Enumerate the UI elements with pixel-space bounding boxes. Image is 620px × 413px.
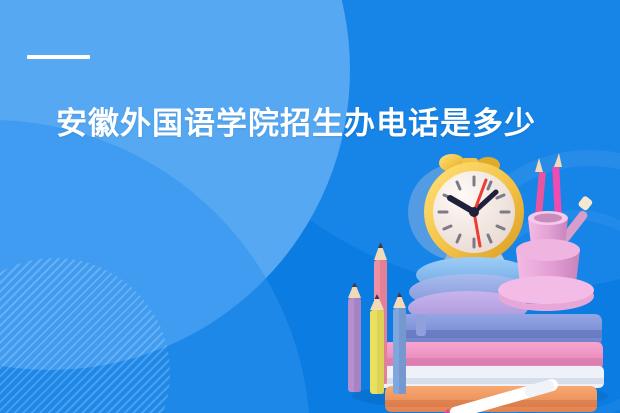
standing-pencils bbox=[348, 242, 406, 394]
book-white-shade bbox=[376, 378, 604, 384]
page-title: 安徽外国语学院招生办电话是多少 bbox=[56, 104, 576, 144]
book-blue-shade bbox=[400, 330, 602, 338]
holder-cup-opening bbox=[534, 214, 562, 223]
pencil-blue-shade bbox=[399, 308, 406, 394]
magenta-pencil-tip bbox=[535, 158, 543, 172]
study-supplies-illustration bbox=[330, 150, 620, 413]
title-accent-rule bbox=[27, 55, 90, 59]
pencil-blue-lead bbox=[397, 292, 402, 297]
holder-body-top bbox=[516, 239, 580, 261]
pink-pencil-tip bbox=[554, 153, 562, 167]
pencil-violet-lead bbox=[352, 282, 357, 287]
clock-center-pin bbox=[469, 207, 479, 217]
pencil-violet-shade bbox=[354, 298, 361, 392]
banner-image: 安徽外国语学院招生办电话是多少 bbox=[0, 0, 620, 413]
book-pink-shade bbox=[383, 358, 603, 365]
book-blue-bookmark bbox=[416, 314, 426, 336]
pencil-yellow-shade bbox=[377, 310, 384, 394]
book-white bbox=[376, 366, 604, 388]
eraser-stick-tip bbox=[577, 195, 593, 211]
holder-base-top bbox=[498, 276, 594, 304]
book-pink bbox=[383, 342, 603, 370]
pencil-red-tall-lead bbox=[378, 242, 383, 248]
